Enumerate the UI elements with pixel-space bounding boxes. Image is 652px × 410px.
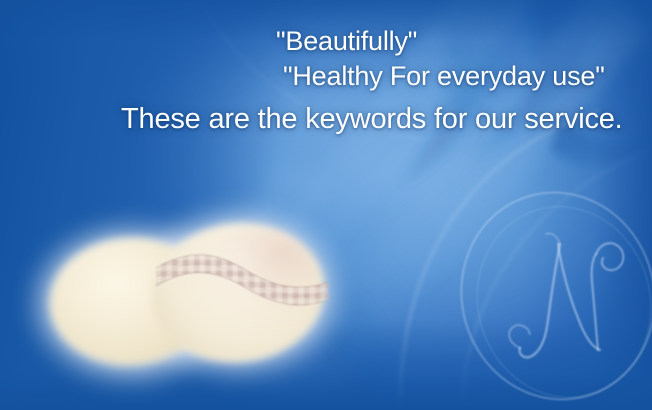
headline-line-3: These are the keywords for our service. xyxy=(121,103,623,135)
banner-canvas: "Beautifully" "Healthy For everyday use"… xyxy=(0,0,652,410)
headline-line-2: "Healthy For everyday use" xyxy=(283,61,605,91)
headline-line-1: "Beautifully" xyxy=(276,26,417,56)
monogram-watermark-n xyxy=(458,178,652,408)
gingham-ribbon-icon xyxy=(150,238,334,320)
